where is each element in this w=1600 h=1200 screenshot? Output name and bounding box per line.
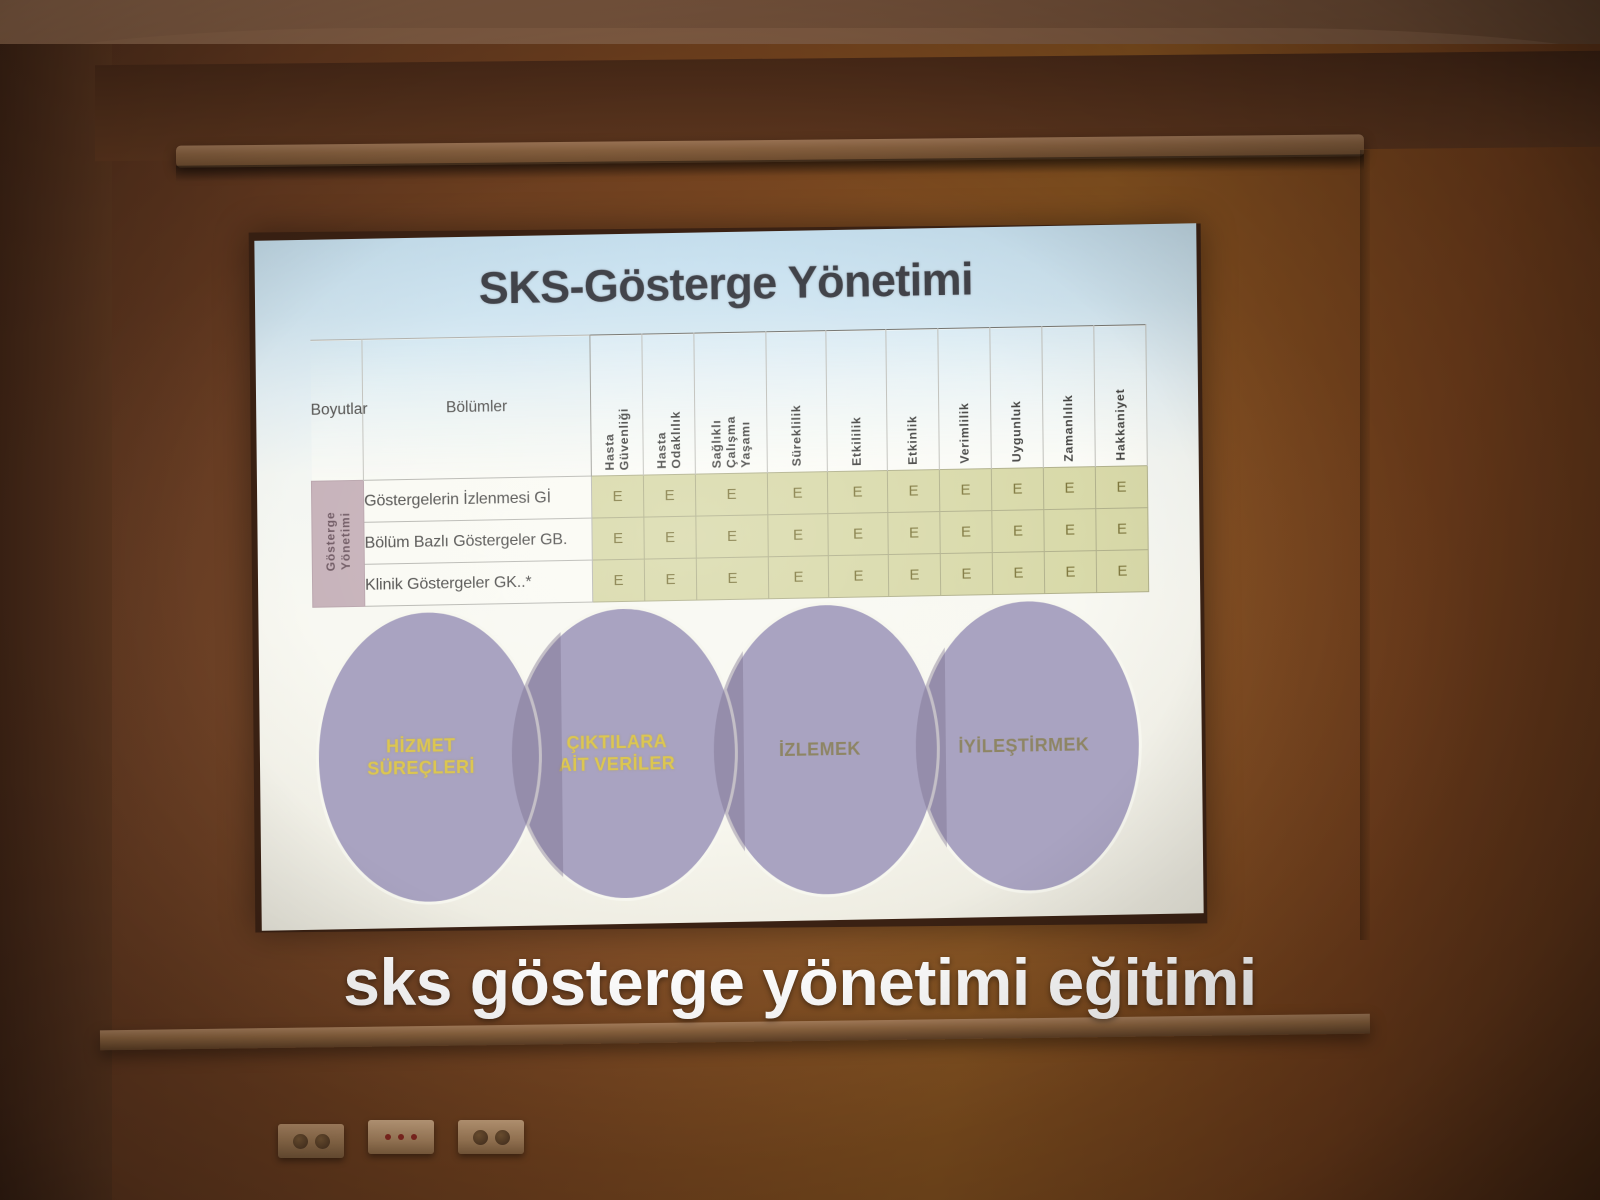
indicator-matrix-table: Boyutlar Bölümler Hasta Güvenliği Hasta … (309, 324, 1149, 608)
photo-caption: sks gösterge yönetimi eğitimi (0, 944, 1600, 1020)
socket-hole-icon (495, 1130, 510, 1145)
process-cycle-diagram: HİZMET SÜREÇLERİ ÇIKTILARA AİT VERİLER İ… (314, 596, 1157, 912)
matrix-cell: E (991, 468, 1043, 511)
matrix-cell: E (887, 470, 939, 513)
slide-title: SKS-Gösterge Yönetimi (255, 249, 1197, 319)
row-label-gostergelerin-izlenmesi: Göstergelerin İzlenmesi Gİ (363, 476, 591, 522)
column-header-etkililik: Etkililik (826, 330, 888, 472)
matrix-cell: E (992, 510, 1044, 553)
socket-pin-icon (385, 1134, 391, 1140)
socket-hole-icon (473, 1130, 488, 1145)
matrix-cell: E (828, 513, 888, 556)
matrix-cell: E (827, 471, 887, 514)
matrix-cell: E (992, 552, 1044, 595)
cycle-circle-iyilestirmek: İYİLEŞTİRMEK (914, 596, 1143, 895)
column-header-verimlilik: Verimlilik (938, 328, 992, 470)
matrix-cell: E (695, 473, 767, 516)
matrix-cell: E (768, 556, 828, 599)
matrix-cell: E (768, 514, 828, 557)
conference-room-photo: SKS-Gösterge Yönetimi Boyutlar Bölümler … (0, 0, 1600, 1200)
column-header-bolumler: Bölümler (362, 335, 591, 480)
socket-left (278, 1124, 344, 1158)
socket-right (458, 1120, 524, 1154)
cycle-circle-ciktilara-ait-veriler: ÇIKTILARA AİT VERİLER (510, 604, 739, 903)
column-header-label: Süreklilik (789, 405, 804, 467)
column-header-hakkaniyet: Hakkaniyet (1094, 325, 1148, 467)
column-header-label: Hasta Güvenliği (602, 407, 632, 470)
socket-hole-icon (315, 1134, 330, 1149)
matrix-cell: E (828, 555, 888, 598)
column-header-zamanlilik: Zamanlılık (1042, 326, 1096, 468)
matrix-cell: E (1043, 467, 1095, 510)
column-header-etkinlik: Etkinlik (886, 329, 940, 471)
column-header-saglikli-calisma-yasami: Sağlıklı Çalışma Yaşamı (694, 332, 768, 474)
column-header-label: Uygunluk (1009, 401, 1024, 463)
matrix-cell: E (767, 472, 827, 515)
cycle-circle-hizmet-surecleri: HİZMET SÜREÇLERİ (314, 608, 543, 907)
column-header-label: Sağlıklı Çalışma Yaşamı (709, 415, 753, 468)
matrix-cell: E (643, 474, 695, 517)
cycle-circle-izlemek: İZLEMEK (712, 600, 941, 899)
column-header-hasta-guvenligi: Hasta Güvenliği (590, 334, 644, 476)
cycle-circle-label: HİZMET SÜREÇLERİ (367, 734, 475, 780)
matrix-cell: E (888, 512, 940, 555)
cycle-circle-label: ÇIKTILARA AİT VERİLER (558, 731, 675, 777)
column-header-label: Hasta Odaklılık (654, 411, 684, 469)
matrix-cell: E (644, 558, 696, 601)
socket-pin-icon (398, 1134, 404, 1140)
row-label-bolum-bazli-gostergeler: Bölüm Bazlı Göstergeler GB. (364, 518, 592, 564)
matrix-cell: E (939, 469, 991, 512)
matrix-cell: E (940, 553, 992, 596)
dimension-label: Gösterge Yönetimi (323, 511, 354, 571)
column-header-label: Verimlilik (957, 402, 972, 463)
projected-slide: SKS-Gösterge Yönetimi Boyutlar Bölümler … (254, 223, 1203, 931)
cycle-circle-label: İYİLEŞTİRMEK (958, 734, 1089, 758)
column-header-hasta-odaklilik: Hasta Odaklılık (642, 333, 696, 475)
cycle-circle-label: İZLEMEK (779, 738, 861, 761)
matrix-cell: E (1095, 466, 1147, 509)
table-header-row: Boyutlar Bölümler Hasta Güvenliği Hasta … (310, 325, 1147, 482)
matrix-cell: E (1044, 551, 1096, 594)
matrix-cell: E (696, 557, 768, 600)
matrix-cell: E (888, 554, 940, 597)
matrix-cell: E (592, 517, 644, 560)
matrix-cell: E (696, 515, 768, 558)
column-header-label: Etkinlik (906, 415, 921, 465)
column-header-label: Zamanlılık (1061, 394, 1076, 461)
row-label-klinik-gostergeler: Klinik Göstergeler GK..* (364, 560, 592, 606)
matrix-cell: E (591, 475, 643, 518)
matrix-cell: E (1096, 508, 1148, 551)
socket-hole-icon (293, 1134, 308, 1149)
wall-pillar-edge (1360, 150, 1370, 940)
column-header-uygunluk: Uygunluk (990, 327, 1044, 469)
column-header-sureklilik: Süreklilik (766, 331, 828, 473)
column-header-label: Etkililik (850, 416, 865, 466)
matrix-cell: E (592, 559, 644, 602)
matrix-cell: E (1044, 509, 1096, 552)
column-header-label: Hakkaniyet (1113, 389, 1128, 461)
socket-middle (368, 1120, 434, 1154)
dimension-cell-gosterge-yonetimi: Gösterge Yönetimi (311, 480, 364, 607)
matrix-cell: E (644, 516, 696, 559)
socket-pin-icon (411, 1134, 417, 1140)
matrix-cell: E (940, 511, 992, 554)
column-header-boyutlar: Boyutlar (310, 339, 364, 481)
matrix-cell: E (1096, 550, 1148, 593)
wall-soffit-left (0, 44, 112, 1200)
